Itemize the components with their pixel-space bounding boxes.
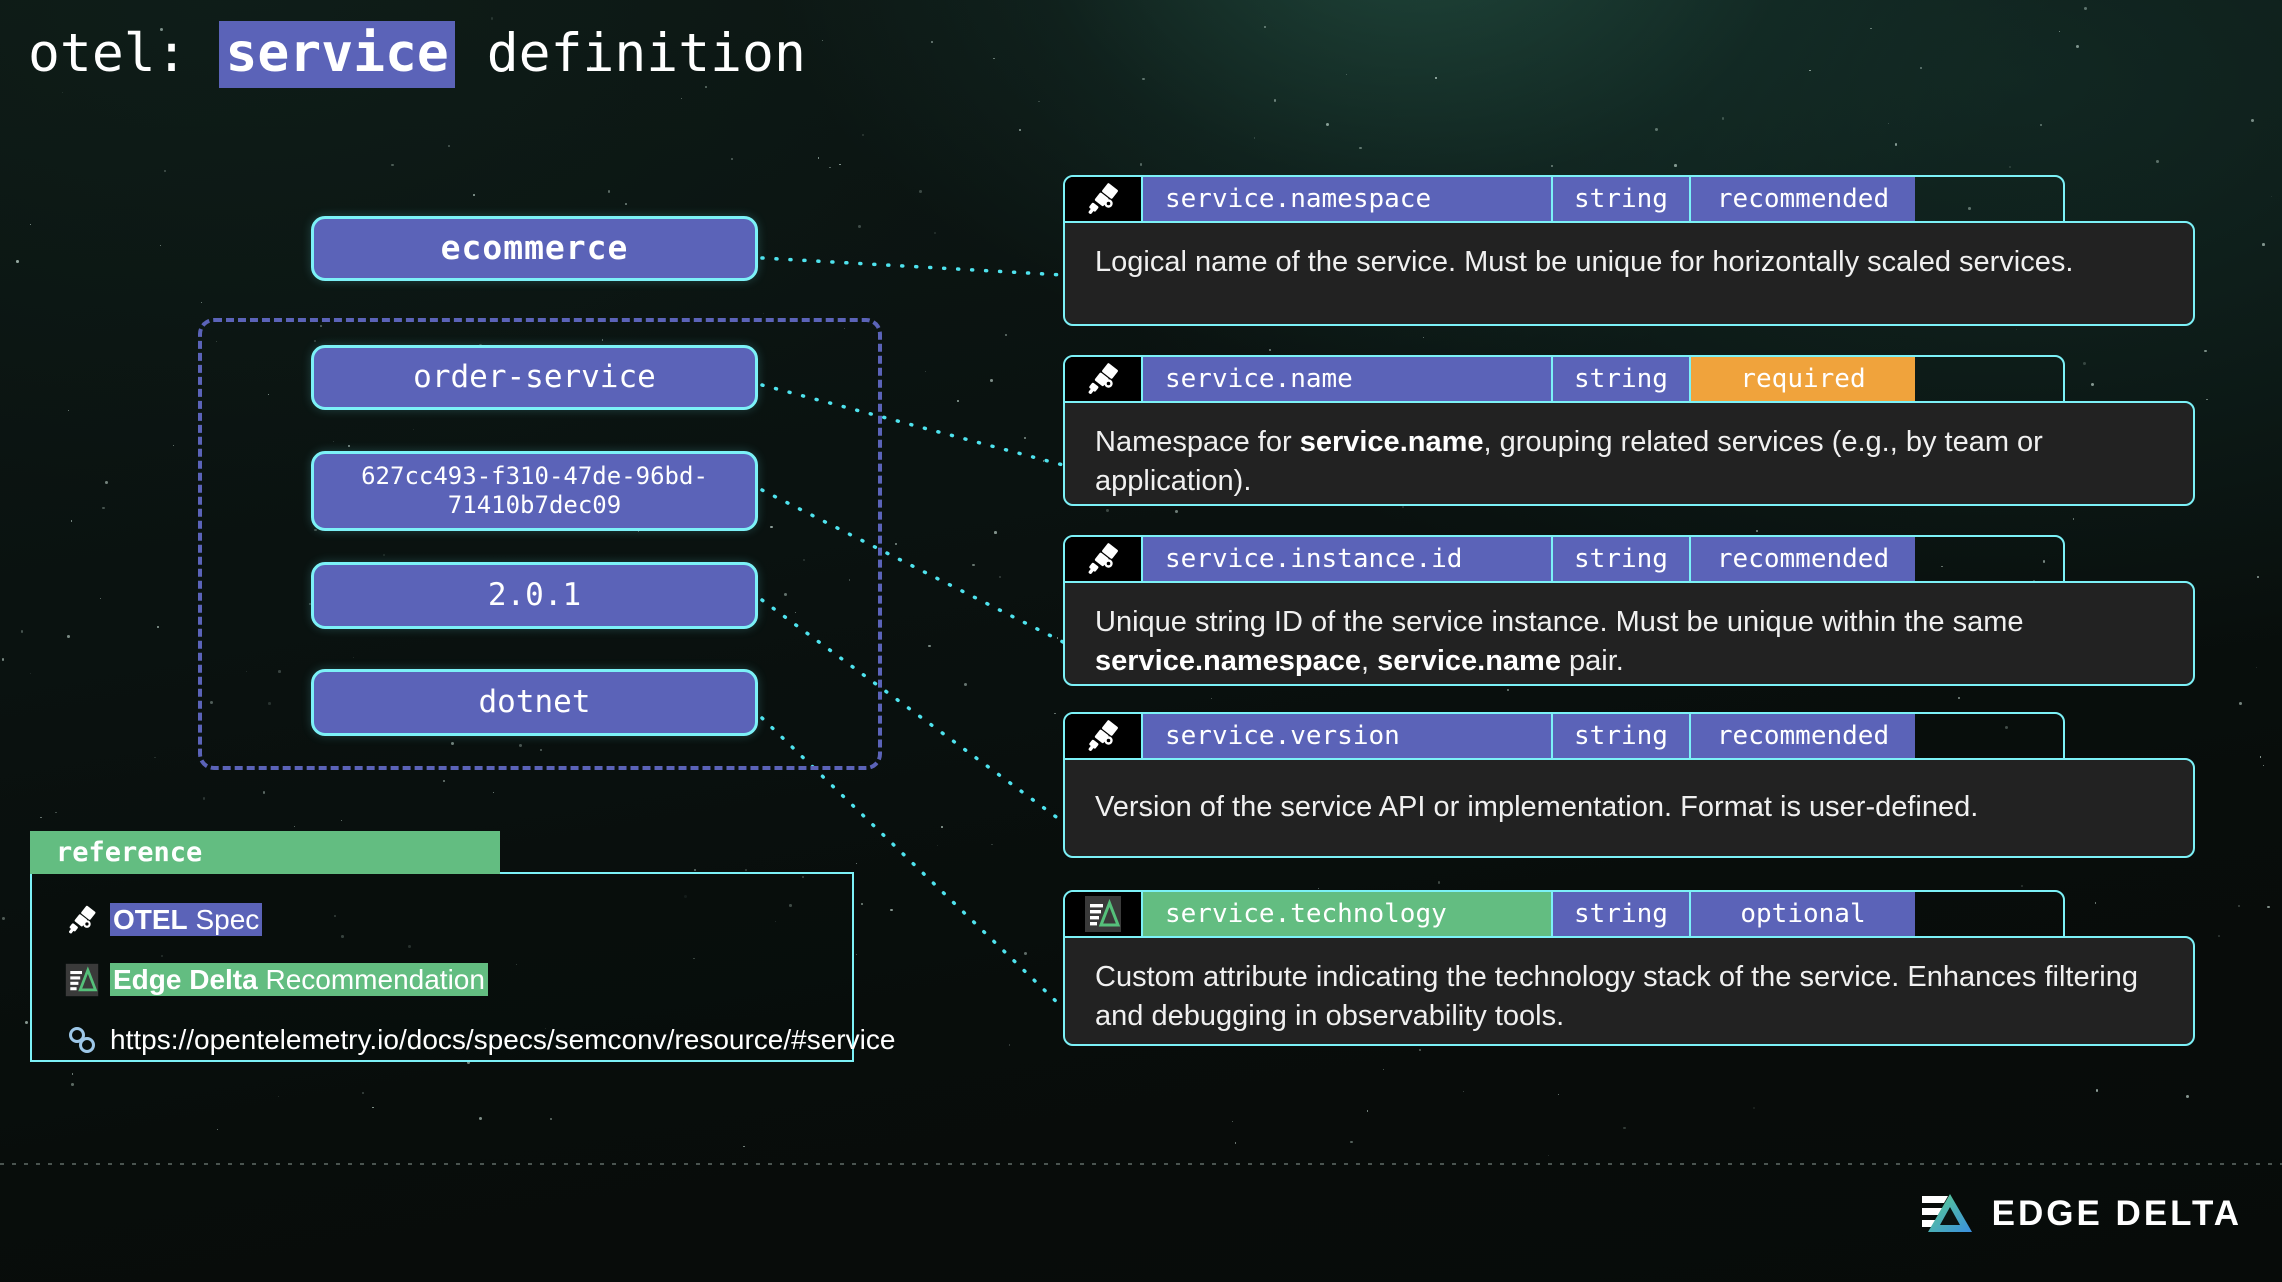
attribute-requirement-badge: recommended — [1689, 714, 1915, 758]
attribute-description: Unique string ID of the service instance… — [1063, 581, 2195, 686]
attribute-type: string — [1551, 714, 1689, 758]
version-value-box[interactable]: 2.0.1 — [311, 562, 758, 629]
attribute-requirement-badge: required — [1689, 357, 1915, 401]
attribute-description: Version of the service API or implementa… — [1063, 758, 2195, 858]
instance-id-value-box[interactable]: 627cc493-f310-47de-96bd-71410b7dec09 — [311, 451, 758, 531]
attribute-type: string — [1551, 537, 1689, 581]
link-icon — [54, 1023, 110, 1057]
attribute-header-row: service.namespace string recommended — [1063, 175, 2065, 223]
title-highlight: service — [219, 21, 454, 88]
reference-header: reference — [30, 831, 500, 874]
attribute-description: Namespace for service.name, grouping rel… — [1063, 401, 2195, 506]
title-suffix: definition — [487, 23, 806, 84]
attribute-type: string — [1551, 177, 1689, 221]
attribute-requirement-badge: recommended — [1689, 177, 1915, 221]
legend-item-edge-delta-recommendation[interactable]: Edge Delta Recommendation — [32, 950, 852, 1010]
attribute-header-row: service.version string recommended — [1063, 712, 2065, 760]
technology-value-box[interactable]: dotnet — [311, 669, 758, 736]
edge-delta-logo-mark — [1920, 1190, 1976, 1238]
attribute-requirement-badge: recommended — [1689, 537, 1915, 581]
attribute-name: service.instance.id — [1141, 537, 1551, 581]
legend-label-rest: Spec — [188, 904, 260, 935]
attribute-name: service.name — [1141, 357, 1551, 401]
attribute-header-row: service.technology string optional — [1063, 890, 2065, 938]
attribute-name: service.technology — [1141, 892, 1551, 936]
attribute-name: service.version — [1141, 714, 1551, 758]
edge-delta-brand-logo: EDGE DELTA — [1920, 1190, 2242, 1238]
telescope-icon — [54, 902, 110, 938]
connector-namespace — [762, 258, 1063, 275]
edge-delta-icon — [54, 962, 110, 998]
attribute-header-row: service.name string required — [1063, 355, 2065, 403]
legend-label-strong: OTEL — [113, 904, 188, 935]
attribute-name: service.namespace — [1141, 177, 1551, 221]
telescope-icon — [1065, 714, 1141, 758]
attribute-header-row: service.instance.id string recommended — [1063, 535, 2065, 583]
namespace-value-box[interactable]: ecommerce — [311, 216, 758, 281]
footer-divider — [0, 1163, 2282, 1165]
attribute-requirement-badge: optional — [1689, 892, 1915, 936]
edge-delta-icon — [1065, 892, 1141, 936]
service-name-value-box[interactable]: order-service — [311, 345, 758, 410]
legend-label: OTEL Spec — [110, 904, 262, 936]
page-title: otel: service definition — [28, 24, 806, 83]
attribute-description: Custom attribute indicating the technolo… — [1063, 936, 2195, 1046]
legend-label: Edge Delta Recommendation — [110, 964, 488, 996]
slide-canvas: otel: service definition ecommerce order… — [0, 0, 2282, 1282]
telescope-icon — [1065, 357, 1141, 401]
legend-item-otel-spec[interactable]: OTEL Spec — [32, 890, 852, 950]
attribute-type: string — [1551, 892, 1689, 936]
legend-url[interactable]: https://opentelemetry.io/docs/specs/semc… — [110, 1024, 895, 1056]
brand-name: EDGE DELTA — [1992, 1194, 2242, 1234]
legend-label-rest: Recommendation — [258, 964, 485, 995]
legend-label-strong: Edge Delta — [113, 964, 258, 995]
reference-body: OTEL Spec Edge Delta Reco — [30, 872, 854, 1062]
attribute-description: Logical name of the service. Must be uni… — [1063, 221, 2195, 326]
telescope-icon — [1065, 177, 1141, 221]
telescope-icon — [1065, 537, 1141, 581]
legend-item-spec-url[interactable]: https://opentelemetry.io/docs/specs/semc… — [32, 1010, 852, 1070]
title-prefix: otel: — [28, 23, 188, 84]
attribute-type: string — [1551, 357, 1689, 401]
